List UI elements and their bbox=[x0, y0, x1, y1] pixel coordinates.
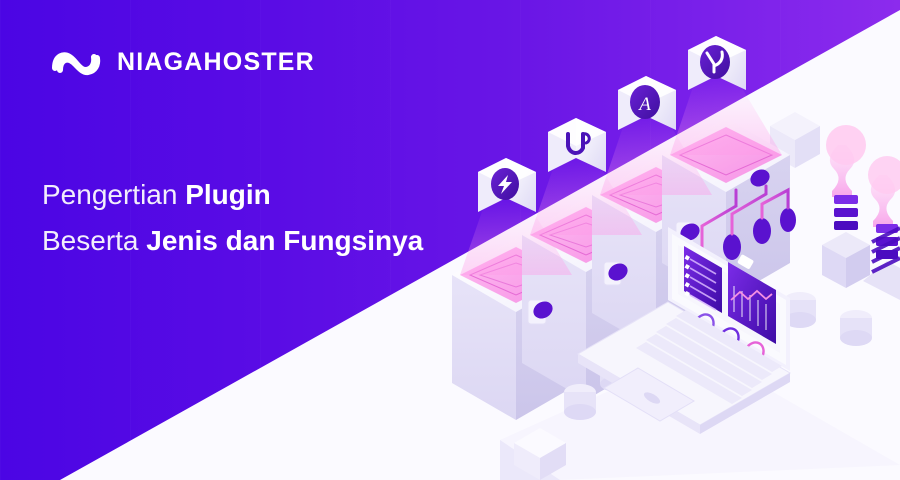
headline-line-2-bold: Jenis dan Fungsinya bbox=[146, 225, 423, 256]
desk-cylinders bbox=[564, 292, 872, 420]
brand-logo[interactable]: NIAGAHOSTER bbox=[50, 44, 315, 80]
laptop-gauges bbox=[691, 311, 768, 367]
plug-1 bbox=[528, 298, 556, 375]
laptop-chart-panel bbox=[728, 262, 776, 344]
laptop-dashboard bbox=[578, 227, 790, 480]
chimney-tower-1 bbox=[822, 125, 870, 288]
brand-wordmark: NIAGAHOSTER bbox=[117, 50, 315, 75]
headline-line-1: Pengertian Plugin bbox=[42, 172, 423, 218]
plug-connectors bbox=[528, 166, 796, 375]
headline-line-1-bold: Plugin bbox=[185, 179, 271, 210]
socket-strip bbox=[672, 254, 786, 338]
headline-line-2: Beserta Jenis dan Fungsinya bbox=[42, 218, 423, 264]
plugin-pillar-3 bbox=[592, 158, 720, 350]
desk-platform bbox=[500, 350, 900, 480]
page-title: Pengertian Plugin Beserta Jenis dan Fung… bbox=[42, 172, 423, 264]
banner: A bbox=[0, 0, 900, 480]
headline-line-2-regular: Beserta bbox=[42, 225, 146, 256]
stripe-arrows bbox=[872, 228, 900, 272]
plugin-pillar-4 bbox=[662, 118, 790, 300]
plug-3 bbox=[676, 220, 703, 245]
niagahoster-wave-mark bbox=[50, 44, 104, 80]
laptop-sidebar-rows bbox=[690, 259, 716, 310]
headline-line-1-regular: Pengertian bbox=[42, 179, 185, 210]
plug-2 bbox=[604, 260, 631, 330]
foreground-cube bbox=[514, 428, 566, 480]
laptop-sidebar-panel bbox=[684, 246, 722, 480]
laptop-keys bbox=[636, 310, 782, 404]
plugin-pillar-1 bbox=[452, 238, 580, 420]
plugin-pillar-2 bbox=[522, 198, 650, 400]
chimney-tower-2 bbox=[863, 156, 900, 300]
